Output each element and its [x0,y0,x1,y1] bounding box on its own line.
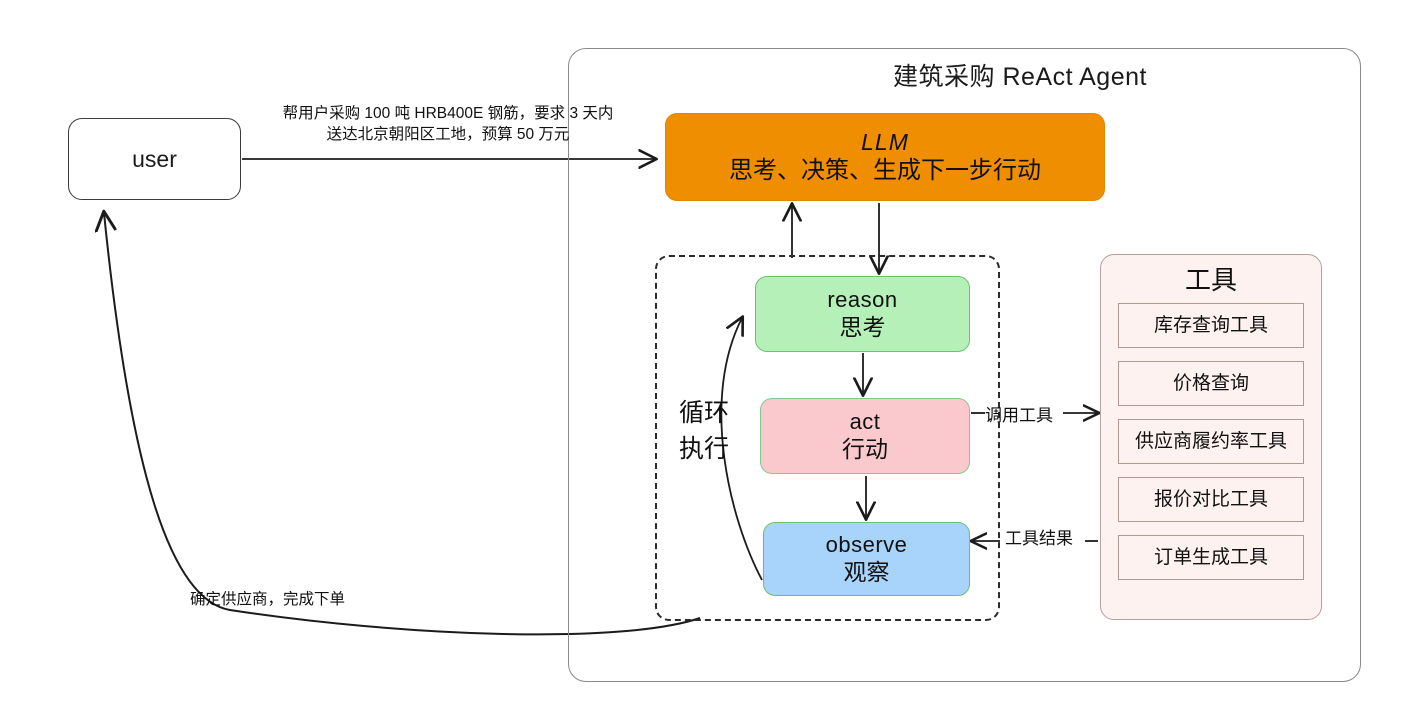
edge-label-call-tool: 调用工具 [985,405,1053,428]
llm-node[interactable]: LLM 思考、决策、生成下一步行动 [665,113,1105,201]
observe-node[interactable]: observe 观察 [763,522,970,596]
observe-en-label: observe [826,532,908,559]
tool-item-price-query[interactable]: 价格查询 [1118,361,1304,406]
user-node[interactable]: user [68,118,241,200]
act-zh-label: 行动 [842,435,888,463]
act-en-label: act [850,409,881,436]
tools-panel-title: 工具 [1185,265,1237,297]
llm-description: 思考、决策、生成下一步行动 [729,156,1041,185]
edge-label-finish: 确定供应商，完成下单 [190,590,345,611]
page-title: 建筑采购 ReAct Agent [700,57,1340,93]
tool-item-inventory-query[interactable]: 库存查询工具 [1118,303,1304,348]
llm-name: LLM [861,128,909,156]
loop-label-line2: 执行 [679,431,729,467]
loop-label: 循环 执行 [672,388,736,474]
reason-zh-label: 思考 [840,313,886,341]
user-label: user [132,145,177,173]
reason-en-label: reason [827,287,897,314]
observe-zh-label: 观察 [844,558,890,586]
tools-panel: 工具 库存查询工具 价格查询 供应商履约率工具 报价对比工具 订单生成工具 [1100,254,1322,620]
act-node[interactable]: act 行动 [760,398,970,474]
tool-item-supplier-fulfillment-rate[interactable]: 供应商履约率工具 [1118,419,1304,464]
edge-label-user-request: 帮用户采购 100 吨 HRB400E 钢筋，要求 3 天内 送达北京朝阳区工地… [258,104,638,146]
tool-item-quote-comparison[interactable]: 报价对比工具 [1118,477,1304,522]
loop-label-line1: 循环 [679,395,729,431]
tool-item-order-generation[interactable]: 订单生成工具 [1118,535,1304,580]
reason-node[interactable]: reason 思考 [755,276,970,352]
diagram-canvas: 建筑采购 ReAct Agent user LLM 思考、决策、生成下一步行动 … [0,0,1406,711]
edge-label-tool-result: 工具结果 [1005,528,1073,551]
